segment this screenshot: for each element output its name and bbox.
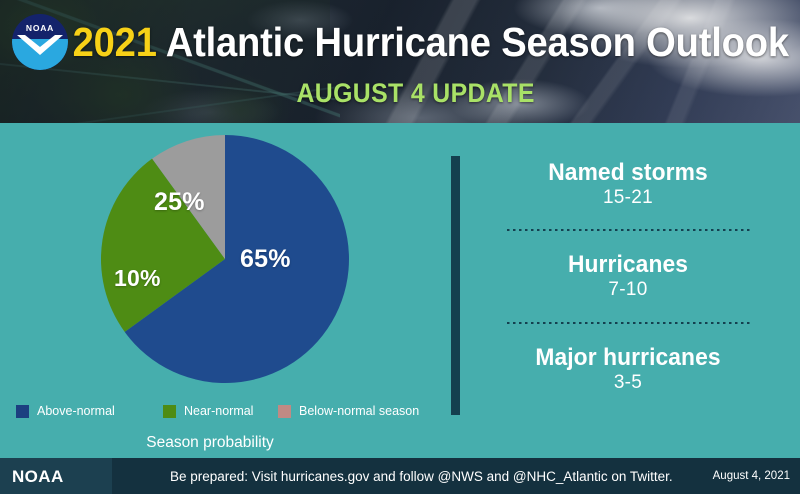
forecast-item-hurricanes: Hurricanes 7-10 (478, 251, 778, 301)
forecast-range-hurricanes: 7-10 (478, 278, 778, 301)
footer-message: Be prepared: Visit hurricanes.gov and fo… (170, 469, 670, 484)
forecast-separator-1 (507, 229, 751, 231)
main-content-panel: 65% 25% 10% Above-normal Near-normal Bel… (0, 123, 800, 458)
page-title-year: 2021 (73, 19, 157, 65)
pie-slice-label-below-normal: 10% (114, 265, 161, 292)
forecast-summary: Named storms 15-21 Hurricanes 7-10 Major… (478, 155, 778, 417)
forecast-item-named-storms: Named storms 15-21 (478, 159, 778, 209)
legend-label-above-normal: Above-normal (37, 404, 115, 418)
pie-slice-label-near-normal: 25% (154, 188, 205, 217)
legend-item-above-normal: Above-normal (16, 404, 115, 418)
legend-swatch-below-normal (278, 405, 291, 418)
forecast-label-major-hurricanes: Major hurricanes (486, 344, 771, 371)
vertical-divider (451, 156, 460, 415)
forecast-separator-2 (507, 322, 751, 324)
legend-item-near-normal: Near-normal (163, 404, 253, 418)
page-title-rest: Atlantic Hurricane Season Outlook (166, 19, 789, 65)
forecast-range-named-storms: 15-21 (478, 186, 778, 209)
footer-brand-text: NOAA (12, 467, 64, 487)
forecast-item-major-hurricanes: Major hurricanes 3-5 (478, 344, 778, 394)
forecast-label-hurricanes: Hurricanes (486, 251, 771, 278)
forecast-range-major-hurricanes: 3-5 (478, 371, 778, 394)
header-banner: NOAA 2021 Atlantic Hurricane Season Outl… (0, 0, 800, 123)
pie-chart-svg (101, 135, 349, 383)
chart-legend: Above-normal Near-normal Below-normal se… (8, 404, 448, 424)
legend-swatch-above-normal (16, 405, 29, 418)
season-probability-pie-chart: 65% 25% 10% (101, 135, 349, 383)
legend-swatch-near-normal (163, 405, 176, 418)
page-title: 2021 Atlantic Hurricane Season Outlook (28, 19, 772, 65)
footer-date: August 4, 2021 (713, 470, 790, 482)
legend-label-near-normal: Near-normal (184, 404, 253, 418)
legend-item-below-normal: Below-normal season (278, 404, 419, 418)
footer-bar: NOAA Be prepared: Visit hurricanes.gov a… (0, 458, 800, 494)
pie-slice-label-above-normal: 65% (240, 245, 291, 274)
hurricane-outlook-infographic: NOAA 2021 Atlantic Hurricane Season Outl… (0, 0, 800, 494)
forecast-label-named-storms: Named storms (486, 159, 771, 186)
chart-caption: Season probability (0, 434, 420, 452)
page-subtitle: AUGUST 4 UPDATE (32, 78, 768, 108)
legend-label-below-normal: Below-normal season (299, 404, 419, 418)
